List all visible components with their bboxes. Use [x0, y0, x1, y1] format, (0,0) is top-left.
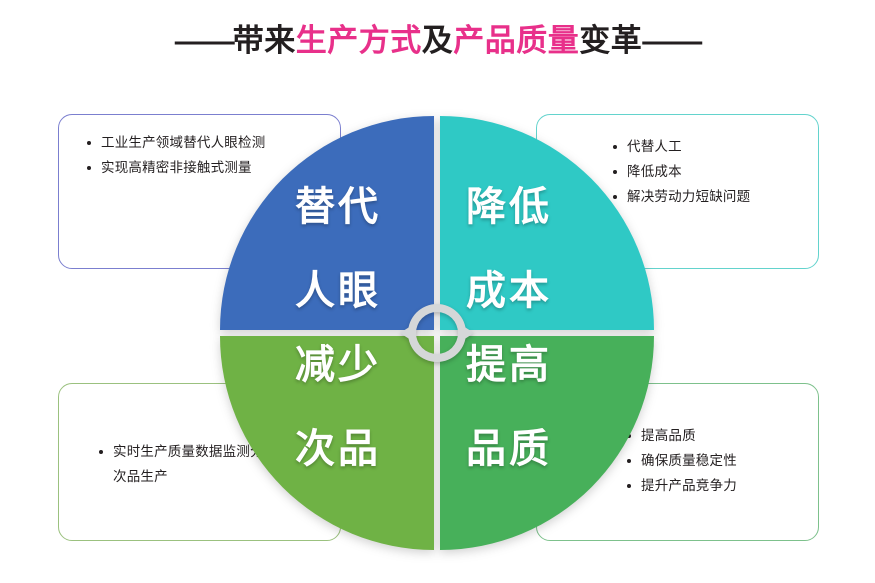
title-dash-right: ——: [642, 23, 700, 58]
title-segment-1: 带来: [233, 23, 296, 58]
title-segment-4-accent: 产品质量: [453, 23, 579, 58]
title-segment-2-accent: 生产方式: [296, 23, 422, 58]
title-segment-5: 变革: [579, 23, 642, 58]
title-segment-3: 及: [422, 23, 454, 58]
page-title: ——带来生产方式及产品质量变革——: [0, 24, 875, 58]
cycle-arrows-icon: [397, 293, 477, 373]
cycle-arc-upper: [408, 304, 466, 333]
cycle-arc-lower: [408, 333, 466, 362]
title-dash-left: ——: [175, 23, 233, 58]
cycle-arrowhead-lower: [400, 324, 414, 342]
infographic-canvas: ——带来生产方式及产品质量变革—— 工业生产领域替代人眼检测 实现高精密非接触式…: [0, 0, 875, 583]
